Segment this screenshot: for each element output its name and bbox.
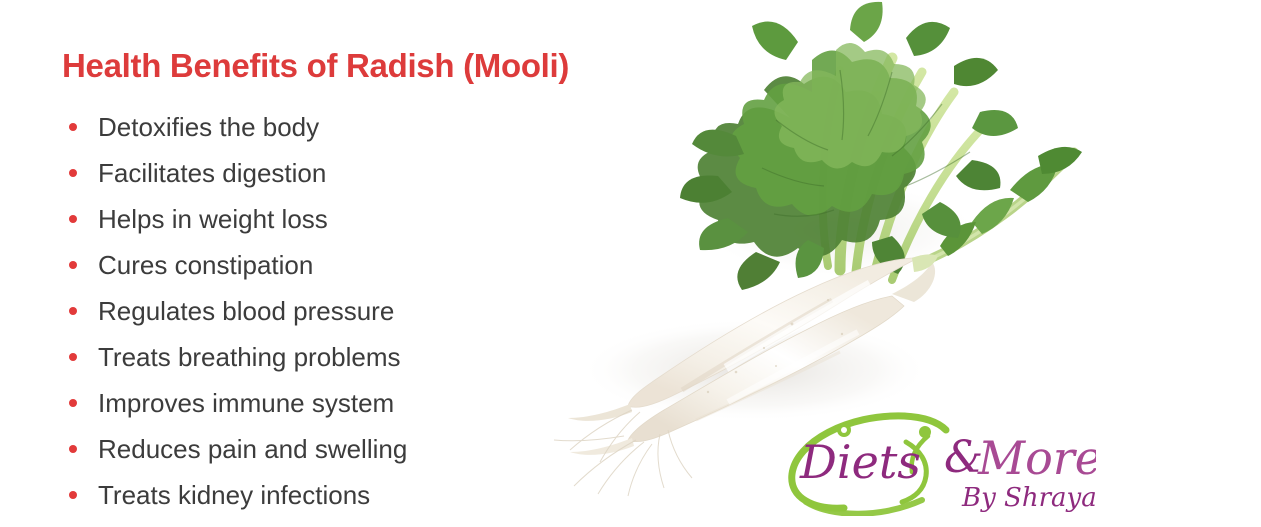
list-item: Detoxifies the body bbox=[62, 104, 542, 150]
list-item: Treats breathing problems bbox=[62, 334, 542, 380]
list-item: Treats kidney infections bbox=[62, 472, 542, 518]
list-item: Helps in weight loss bbox=[62, 196, 542, 242]
list-item-label: Helps in weight loss bbox=[98, 204, 328, 234]
list-item: Regulates blood pressure bbox=[62, 288, 542, 334]
brand-logo[interactable]: Diets & More By Shraya bbox=[786, 406, 1096, 516]
list-item-label: Reduces pain and swelling bbox=[98, 434, 407, 464]
list-item-label: Facilitates digestion bbox=[98, 158, 326, 188]
list-item-label: Detoxifies the body bbox=[98, 112, 319, 142]
list-item-label: Cures constipation bbox=[98, 250, 313, 280]
logo-byline: By Shraya bbox=[961, 483, 1096, 513]
list-item-label: Improves immune system bbox=[98, 388, 394, 418]
bullet-dot-icon bbox=[69, 307, 77, 315]
bullet-dot-icon bbox=[69, 353, 77, 361]
list-item-label: Regulates blood pressure bbox=[98, 296, 394, 326]
bullet-dot-icon bbox=[69, 399, 77, 407]
list-item: Reduces pain and swelling bbox=[62, 426, 542, 472]
bullet-dot-icon bbox=[69, 445, 77, 453]
bullet-dot-icon bbox=[69, 123, 77, 131]
bullet-dot-icon bbox=[69, 261, 77, 269]
list-item: Cures constipation bbox=[62, 242, 542, 288]
list-item-label: Treats kidney infections bbox=[98, 480, 370, 510]
infographic-canvas: Health Benefits of Radish (Mooli) Detoxi… bbox=[0, 0, 1261, 527]
page-title: Health Benefits of Radish (Mooli) bbox=[62, 47, 569, 85]
list-item: Facilitates digestion bbox=[62, 150, 542, 196]
bullet-dot-icon bbox=[69, 491, 77, 499]
logo-brand-suffix: More bbox=[977, 431, 1096, 485]
bullet-dot-icon bbox=[69, 169, 77, 177]
benefits-list: Detoxifies the body Facilitates digestio… bbox=[62, 104, 542, 518]
list-item: Improves immune system bbox=[62, 380, 542, 426]
list-item-label: Treats breathing problems bbox=[98, 342, 401, 372]
logo-brand: Diets bbox=[799, 435, 921, 489]
bullet-dot-icon bbox=[69, 215, 77, 223]
